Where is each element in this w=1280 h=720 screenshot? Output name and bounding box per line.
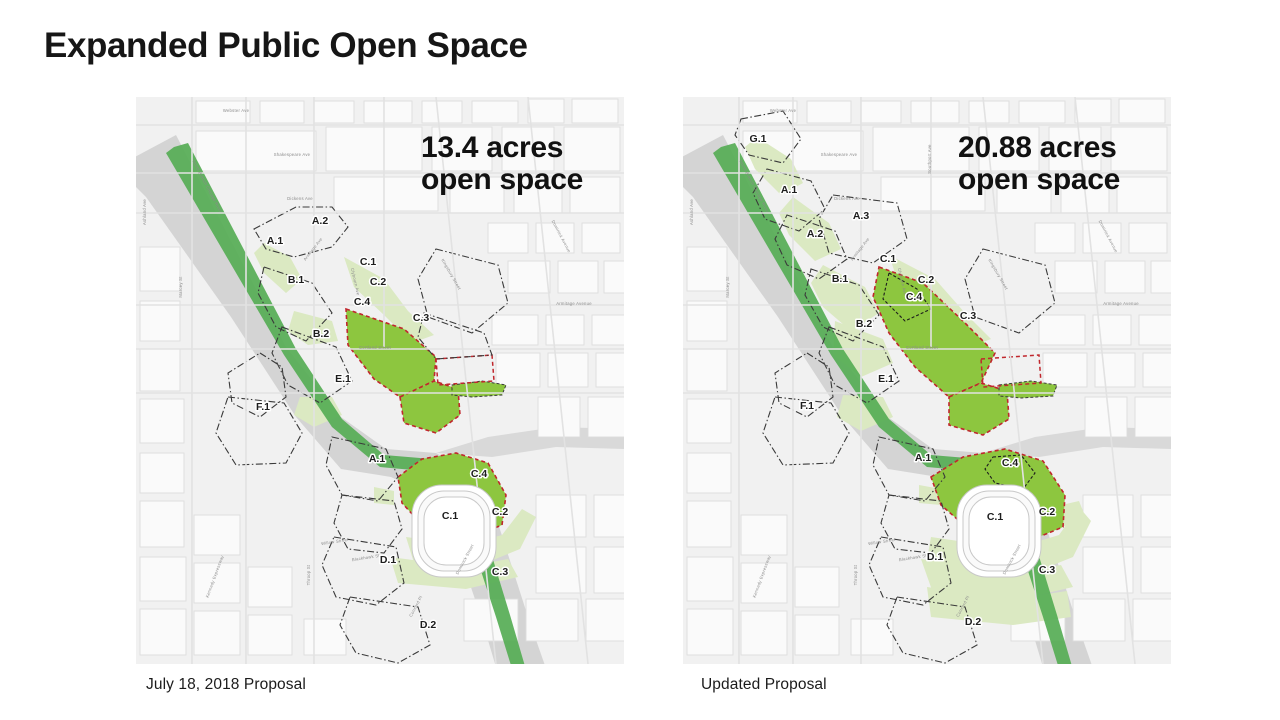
- parcel-label-left-7: C.4: [354, 296, 371, 308]
- parcel-label-left-11: C.1: [442, 510, 459, 522]
- street-label-right-2: Dickens Ave: [834, 196, 860, 201]
- stadium-oval-right: [957, 485, 1041, 577]
- parcel-label-right-5: B.2: [856, 318, 873, 330]
- acreage-label-left: open space: [421, 164, 583, 196]
- parcel-label-left-2: B.1: [288, 274, 305, 286]
- map-panel-updated-proposal[interactable]: Webster AveShakespeare AveDickens AveArm…: [683, 97, 1171, 664]
- parcel-label-right-0: G.1: [750, 133, 767, 145]
- street-label-left-10: Marcey St: [178, 276, 183, 298]
- parcel-label-right-13: C.4: [1002, 457, 1019, 469]
- street-label-left-0: Webster Ave: [223, 108, 250, 113]
- street-label-right-13: Throop St: [853, 564, 858, 585]
- parcel-label-right-3: A.3: [853, 210, 870, 222]
- parcel-label-right-14: C.1: [987, 511, 1004, 523]
- parcel-label-right-7: C.2: [918, 274, 935, 286]
- street-label-left-1: Shakespeare Ave: [274, 152, 311, 157]
- street-label-right-5: Cortland Street: [906, 345, 939, 350]
- acreage-label-right: open space: [958, 164, 1120, 196]
- street-label-left-9: Ashland Ave: [142, 199, 147, 225]
- parcel-label-left-0: A.1: [267, 235, 284, 247]
- parcel-label-left-3: B.2: [313, 328, 330, 340]
- parcel-label-left-6: C.3: [413, 312, 430, 324]
- parcel-label-left-4: C.1: [360, 256, 377, 268]
- parcel-label-left-1: A.2: [312, 215, 329, 227]
- street-label-right-0: Webster Ave: [770, 108, 797, 113]
- acreage-callout-left: 13.4 acres open space: [421, 132, 583, 195]
- street-label-right-1: Shakespeare Ave: [821, 152, 858, 157]
- parcel-label-right-8: C.3: [960, 310, 977, 322]
- parcel-label-right-12: A.1: [915, 452, 932, 464]
- parcel-label-left-8: E.1: [335, 373, 351, 385]
- street-label-left-2: Dickens Ave: [287, 196, 313, 201]
- acreage-callout-right: 20.88 acres open space: [958, 132, 1120, 195]
- parcel-label-right-6: C.1: [880, 253, 897, 265]
- caption-july-2018-proposal: July 18, 2018 Proposal: [146, 676, 306, 694]
- parcel-label-left-5: C.2: [370, 276, 387, 288]
- slide-root: Expanded Public Open Space: [0, 0, 1280, 720]
- parcel-label-right-17: D.1: [927, 551, 944, 563]
- parcel-label-left-12: C.2: [492, 506, 509, 518]
- street-label-left-4: Armitage Avenue: [556, 301, 592, 306]
- parcel-label-left-9: F.1: [256, 401, 270, 413]
- caption-updated-proposal: Updated Proposal: [701, 676, 827, 694]
- page-title: Expanded Public Open Space: [44, 26, 528, 66]
- street-label-right-4: Armitage Avenue: [1103, 301, 1139, 306]
- map-panel-july-2018-proposal[interactable]: Webster AveShakespeare AveDickens AveArm…: [136, 97, 624, 664]
- parcel-label-right-4: B.1: [832, 273, 849, 285]
- parcel-label-left-16: D.2: [420, 619, 437, 631]
- parcel-label-right-11: F.1: [800, 400, 814, 412]
- parcel-label-left-15: D.1: [380, 554, 397, 566]
- acreage-value-left: 13.4 acres: [421, 132, 583, 164]
- stadium-oval-left: [412, 485, 496, 577]
- street-label-right-11: Marcey St: [725, 276, 730, 298]
- parcel-label-right-16: C.3: [1039, 564, 1056, 576]
- acreage-value-right: 20.88 acres: [958, 132, 1120, 164]
- parcel-label-left-14: C.4: [471, 468, 488, 480]
- parcel-label-right-10: E.1: [878, 373, 894, 385]
- parcel-label-right-15: C.2: [1039, 506, 1056, 518]
- street-label-right-7: Southport Ave: [927, 144, 932, 174]
- parcel-label-right-18: D.2: [965, 616, 982, 628]
- parcel-label-right-1: A.1: [781, 184, 798, 196]
- street-label-left-12: Throop St: [306, 564, 311, 585]
- parcel-label-left-13: C.3: [492, 566, 509, 578]
- street-label-left-5: Cortland Street: [359, 345, 391, 350]
- parcel-label-right-2: A.2: [807, 228, 824, 240]
- parcel-label-right-9: C.4: [906, 291, 923, 303]
- street-label-right-10: Ashland Ave: [689, 199, 694, 225]
- parcel-label-left-10: A.1: [369, 453, 386, 465]
